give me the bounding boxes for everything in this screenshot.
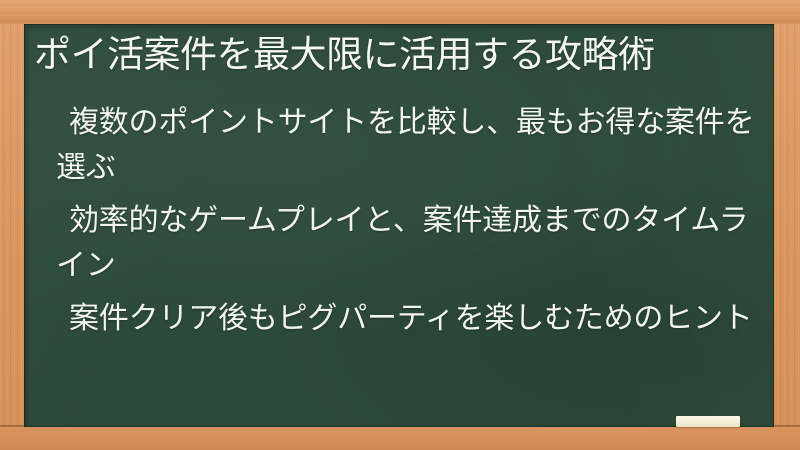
page-title: ポイ活案件を最大限に活用する攻略術 (34, 32, 764, 78)
chalkboard-surface: ポイ活案件を最大限に活用する攻略術 複数のポイントサイトを比較し、最もお得な案件… (24, 24, 774, 427)
list-item: 案件クリア後もピグパーティを楽しむためのヒント (56, 296, 756, 341)
bullet-list: 複数のポイントサイトを比較し、最もお得な案件を選ぶ 効率的なゲームプレイと、案件… (56, 100, 756, 341)
list-item: 効率的なゲームプレイと、案件達成までのタイムライン (56, 198, 756, 288)
chalk-tray (0, 427, 800, 450)
board-content: ポイ活案件を最大限に活用する攻略術 複数のポイントサイトを比較し、最もお得な案件… (24, 24, 774, 427)
chalkboard-slide: ポイ活案件を最大限に活用する攻略術 複数のポイントサイトを比較し、最もお得な案件… (0, 0, 800, 450)
chalk-eraser (676, 416, 740, 427)
frame-top-rail (0, 0, 800, 24)
list-item: 複数のポイントサイトを比較し、最もお得な案件を選ぶ (56, 100, 756, 190)
